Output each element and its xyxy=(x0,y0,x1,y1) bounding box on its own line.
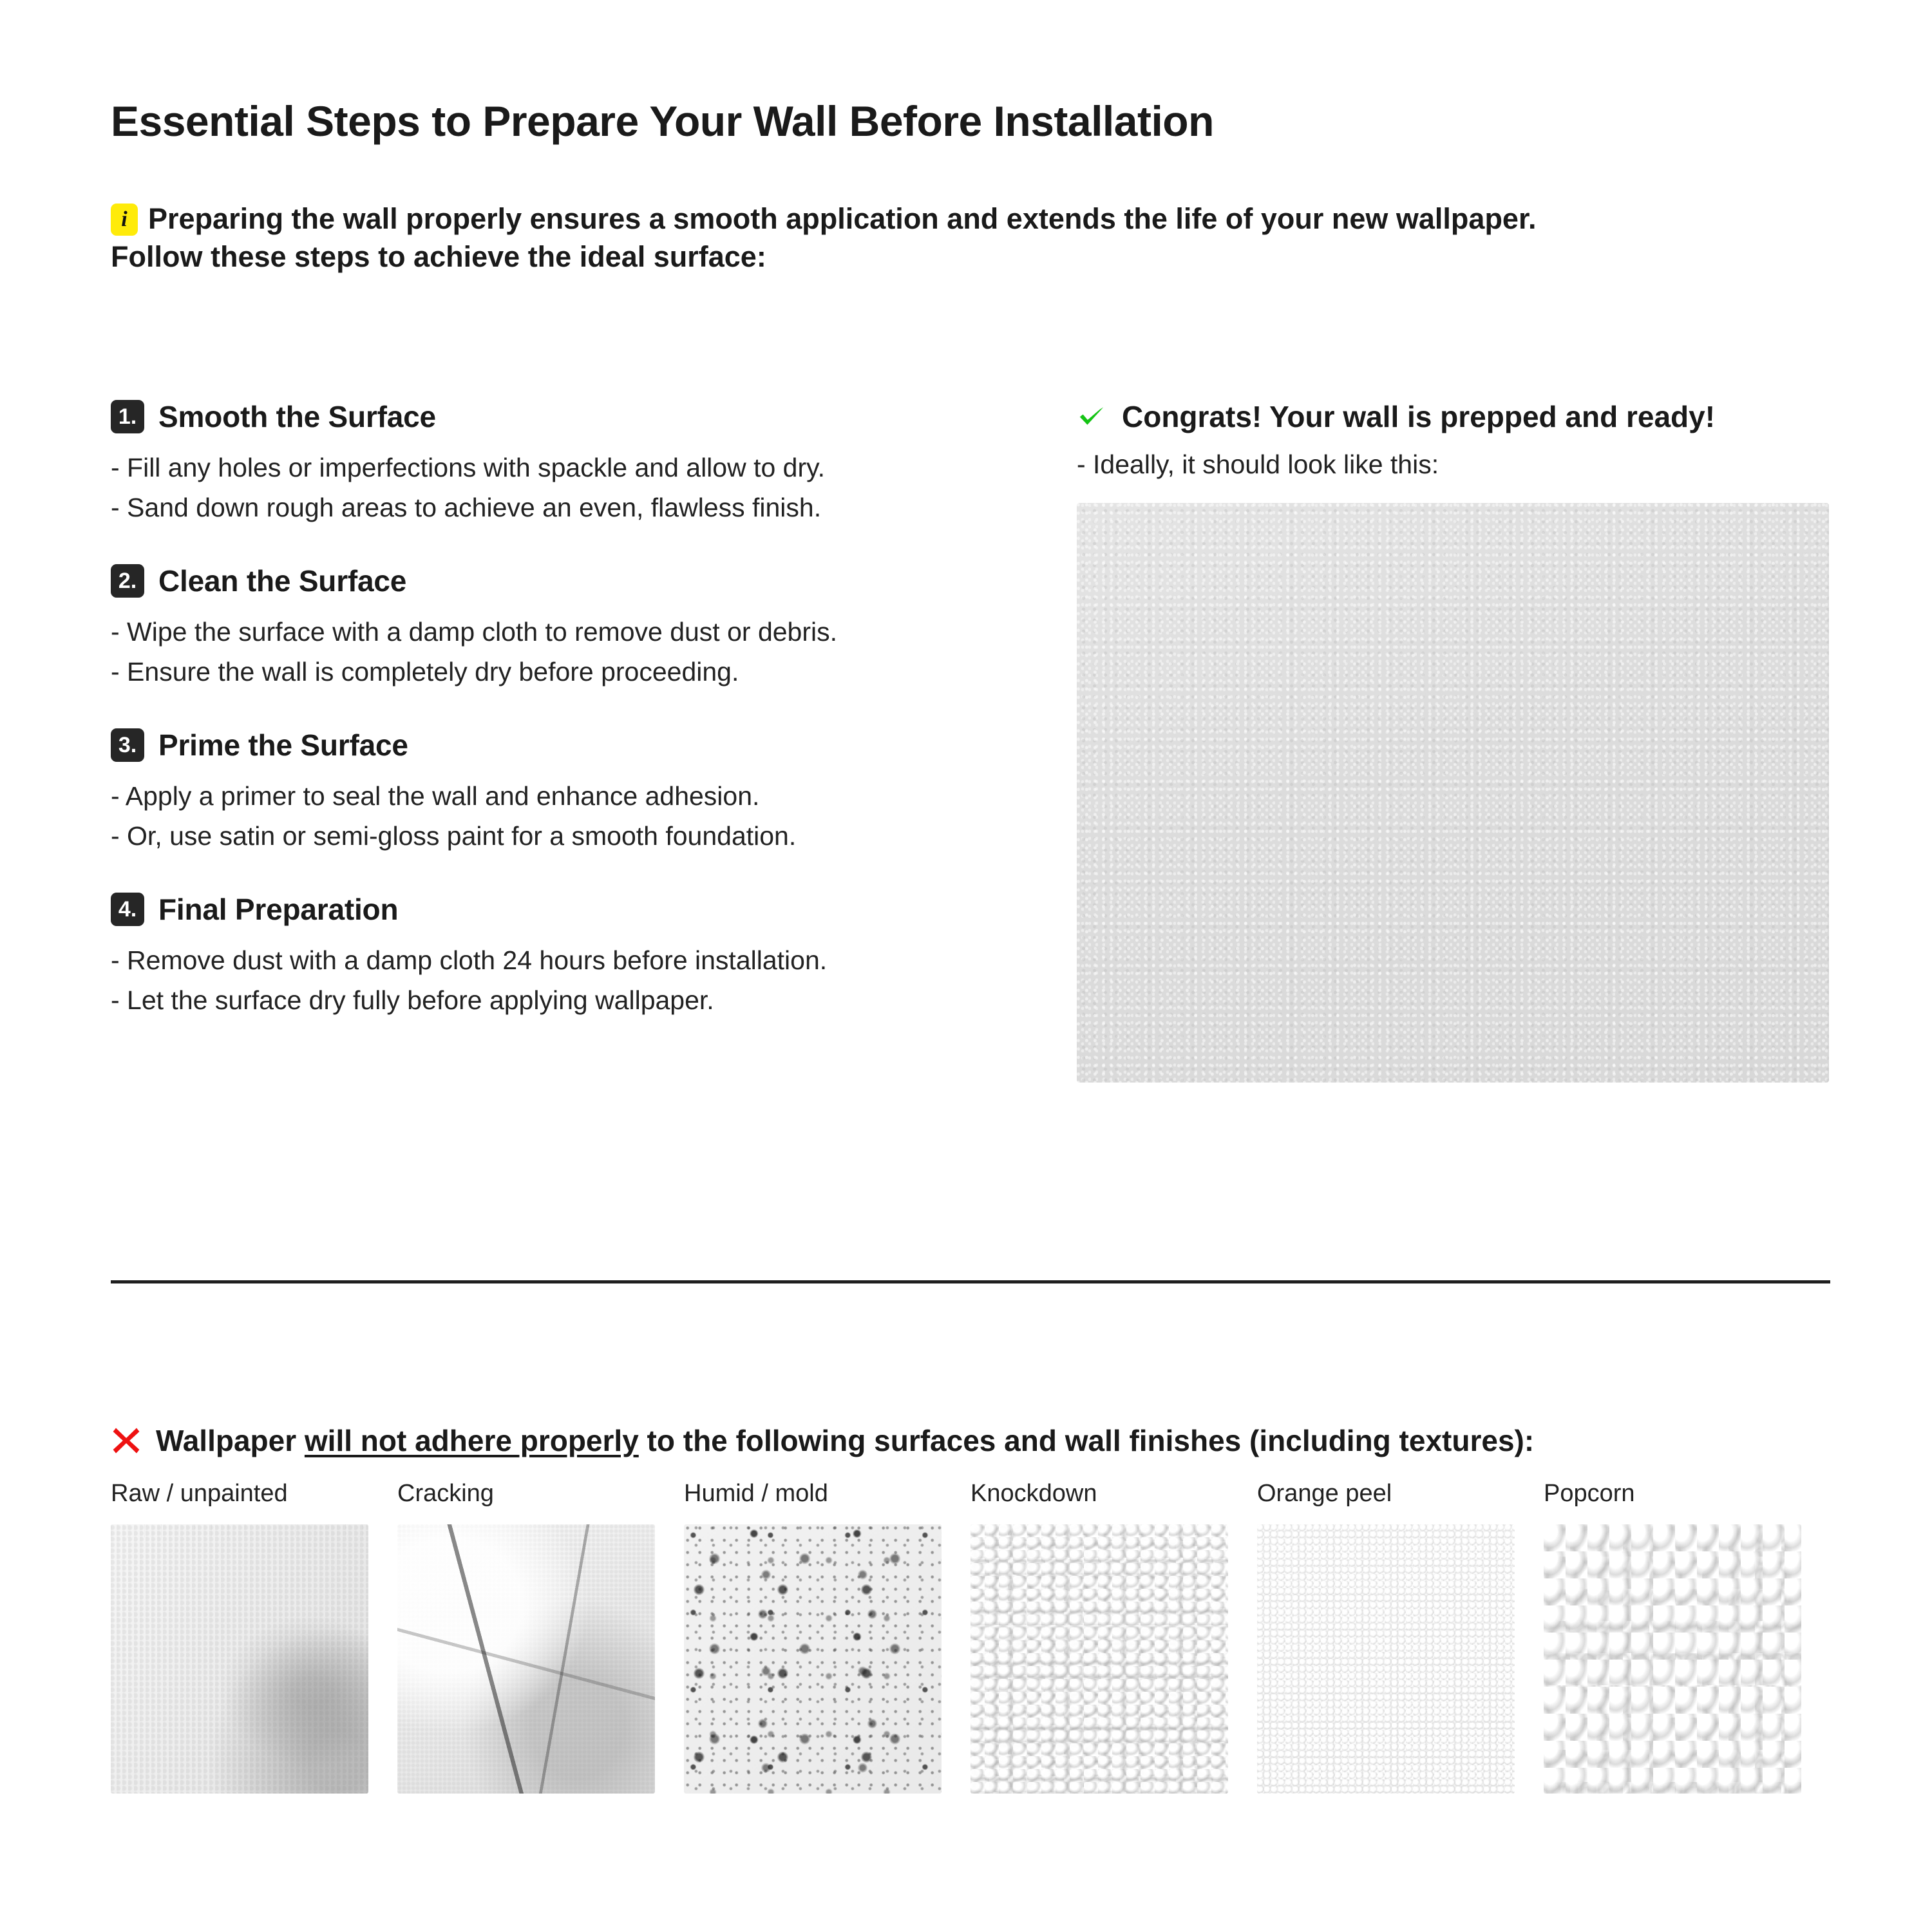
thumbnail-label: Knockdown xyxy=(971,1480,1228,1508)
bad-title-prefix: Wallpaper xyxy=(156,1424,305,1457)
thumbnail-label: Popcorn xyxy=(1544,1480,1801,1508)
congrats-column: Congrats! Your wall is prepped and ready… xyxy=(1077,399,1830,1083)
step-detail-line: - Sand down rough areas to achieve an ev… xyxy=(111,488,1012,528)
step-title: Final Preparation xyxy=(158,892,398,927)
popcorn-texture-image xyxy=(1544,1524,1801,1794)
page-title: Essential Steps to Prepare Your Wall Bef… xyxy=(111,97,1214,146)
step-item-4: 4. Final Preparation - Remove dust with … xyxy=(111,892,1012,1020)
info-icon: i xyxy=(111,204,138,236)
humid-mold-texture-image xyxy=(684,1524,942,1794)
bad-title-underlined: will not adhere properly xyxy=(305,1424,639,1457)
step-title: Clean the Surface xyxy=(158,563,406,598)
wall-prep-guide-page: Essential Steps to Prepare Your Wall Bef… xyxy=(0,0,1932,1932)
ideal-wall-image xyxy=(1077,503,1829,1083)
bad-title-suffix: to the following surfaces and wall finis… xyxy=(639,1424,1534,1457)
step-detail-line: - Let the surface dry fully before apply… xyxy=(111,981,1012,1021)
step-number-badge: 2. xyxy=(111,564,144,598)
step-header: 2. Clean the Surface xyxy=(111,563,1012,598)
orange-peel-texture-image xyxy=(1257,1524,1515,1794)
step-item-1: 1. Smooth the Surface - Fill any holes o… xyxy=(111,399,1012,527)
step-item-2: 2. Clean the Surface - Wipe the surface … xyxy=(111,563,1012,692)
step-header: 3. Prime the Surface xyxy=(111,728,1012,762)
thumbnail-label: Humid / mold xyxy=(684,1480,942,1508)
intro-line-1: Preparing the wall properly ensures a sm… xyxy=(148,202,1537,235)
step-detail-line: - Apply a primer to seal the wall and en… xyxy=(111,777,1012,817)
bad-surface-item-knockdown: Knockdown xyxy=(971,1480,1228,1794)
step-detail-line: - Or, use satin or semi-gloss paint for … xyxy=(111,817,1012,857)
bad-surface-item-humid-mold: Humid / mold xyxy=(684,1480,942,1794)
bad-surface-item-popcorn: Popcorn xyxy=(1544,1480,1801,1794)
x-icon xyxy=(111,1425,142,1456)
intro-line-2: Follow these steps to achieve the ideal … xyxy=(111,240,766,273)
step-detail-line: - Remove dust with a damp cloth 24 hours… xyxy=(111,941,1012,981)
congrats-header: Congrats! Your wall is prepped and ready… xyxy=(1077,399,1830,434)
step-title: Smooth the Surface xyxy=(158,399,436,434)
raw-unpainted-texture-image xyxy=(111,1524,368,1794)
step-number-badge: 4. xyxy=(111,893,144,926)
thumbnail-label: Raw / unpainted xyxy=(111,1480,368,1508)
congrats-subtitle: - Ideally, it should look like this: xyxy=(1077,450,1830,480)
bad-surfaces-title: Wallpaper will not adhere properly to th… xyxy=(156,1423,1534,1458)
thumbnail-label: Cracking xyxy=(397,1480,655,1508)
knockdown-texture-image xyxy=(971,1524,1228,1794)
intro-paragraph: iPreparing the wall properly ensures a s… xyxy=(111,200,1837,276)
thumbnail-label: Orange peel xyxy=(1257,1480,1515,1508)
bad-surface-item-orange-peel: Orange peel xyxy=(1257,1480,1515,1794)
step-item-3: 3. Prime the Surface - Apply a primer to… xyxy=(111,728,1012,856)
step-number-badge: 1. xyxy=(111,400,144,433)
bad-surfaces-thumbnail-row: Raw / unpainted Cracking Humid / mold Kn… xyxy=(111,1480,1830,1794)
check-icon xyxy=(1077,402,1106,431)
bad-surfaces-section: Wallpaper will not adhere properly to th… xyxy=(111,1423,1830,1794)
congrats-title: Congrats! Your wall is prepped and ready… xyxy=(1122,399,1715,434)
bad-surface-item-cracking: Cracking xyxy=(397,1480,655,1794)
step-header: 4. Final Preparation xyxy=(111,892,1012,927)
section-divider xyxy=(111,1280,1830,1283)
step-title: Prime the Surface xyxy=(158,728,408,762)
step-detail-line: - Wipe the surface with a damp cloth to … xyxy=(111,612,1012,652)
step-header: 1. Smooth the Surface xyxy=(111,399,1012,434)
step-detail-line: - Fill any holes or imperfections with s… xyxy=(111,448,1012,488)
bad-surface-item-raw-unpainted: Raw / unpainted xyxy=(111,1480,368,1794)
cracking-texture-image xyxy=(397,1524,655,1794)
step-number-badge: 3. xyxy=(111,728,144,762)
step-detail-line: - Ensure the wall is completely dry befo… xyxy=(111,652,1012,692)
bad-surfaces-header: Wallpaper will not adhere properly to th… xyxy=(111,1423,1830,1458)
steps-column: 1. Smooth the Surface - Fill any holes o… xyxy=(111,399,1012,1020)
